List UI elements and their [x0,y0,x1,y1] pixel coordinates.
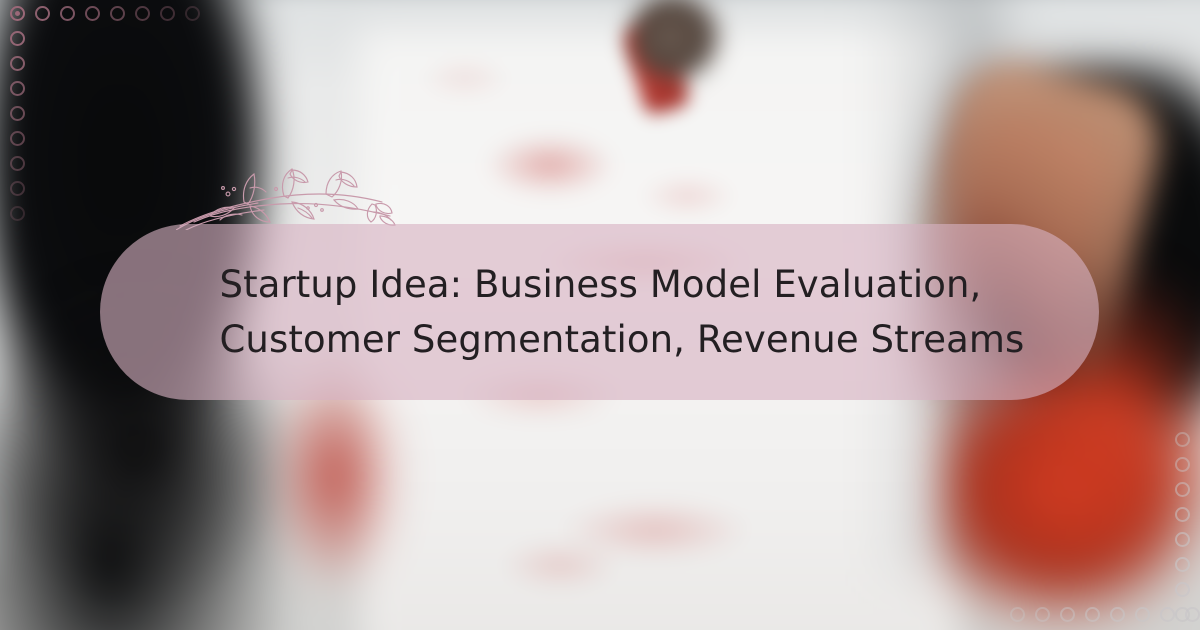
decorative-dot [185,6,200,21]
decorative-dot [35,6,50,21]
decorative-dot [160,6,175,21]
decorative-dot [10,181,25,196]
decorative-dot [1175,507,1190,522]
decorative-dot [1175,432,1190,447]
decorative-dot [10,6,25,21]
decorative-dot [1135,607,1150,622]
decorative-dot [10,206,25,221]
decorative-dot [1160,607,1175,622]
decorative-dot [10,81,25,96]
page-title-line-1: Startup Idea: Business Model Evaluation, [220,257,980,312]
whiteboard-scribble [485,135,615,195]
decorative-dot [10,31,25,46]
decorative-dot [1175,557,1190,572]
whiteboard-scribble [640,178,735,214]
decorative-dot [110,6,125,21]
page-title-line-2: Customer Segmentation, Revenue Streams [220,312,980,367]
whiteboard-scribble [420,60,510,96]
decorative-dot [1185,607,1200,622]
decorative-dot [1175,532,1190,547]
decorative-dot [1085,607,1100,622]
decorative-dot [1175,457,1190,472]
decorative-dot [10,131,25,146]
decorative-dot [10,156,25,171]
page-title: Startup Idea: Business Model Evaluation,… [186,257,1014,367]
decorative-dot [1175,482,1190,497]
whiteboard-scribble [500,540,620,590]
cover-image-canvas: Startup Idea: Business Model Evaluation,… [0,0,1200,630]
decorative-dot [60,6,75,21]
decorative-dot [1060,607,1075,622]
decorative-dot [135,6,150,21]
decorative-dot [10,56,25,71]
decorative-dot [1035,607,1050,622]
decorative-dot [85,6,100,21]
decorative-dot [10,106,25,121]
title-pill-banner: Startup Idea: Business Model Evaluation,… [100,224,1099,400]
decorative-dot [1110,607,1125,622]
background-left-edge-light [0,0,6,570]
decorative-dot [1010,607,1025,622]
decorative-dot [1175,582,1190,597]
